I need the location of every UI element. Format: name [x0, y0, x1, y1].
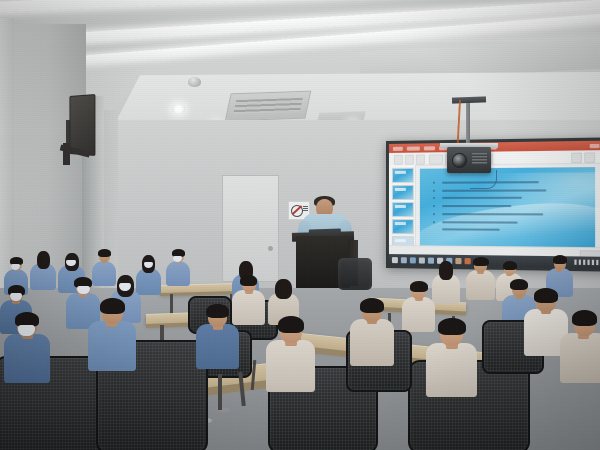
audience-member-torso	[266, 340, 315, 392]
audience-member-hair	[240, 275, 257, 286]
slide-thumbnail[interactable]	[392, 168, 414, 183]
audience-member-hair	[503, 261, 517, 270]
audience-member-torso	[426, 343, 477, 397]
audience-member-hair	[553, 255, 567, 264]
audience-member-hair	[275, 279, 292, 299]
slide-thumbnail-panel[interactable]	[389, 165, 416, 255]
slide-thumbnail[interactable]	[392, 219, 414, 234]
audience-member-torso	[232, 290, 265, 325]
projected-image	[389, 141, 600, 269]
audience-member-hair	[473, 257, 489, 266]
audience-member-torso	[402, 297, 435, 332]
audience-member-torso	[350, 319, 394, 366]
mesh-office-chair	[338, 258, 372, 290]
projector-vent	[472, 153, 487, 164]
active-slide[interactable]	[420, 167, 595, 248]
audience-member-torso	[560, 333, 600, 383]
windows-taskbar[interactable]	[389, 254, 600, 268]
projection-screen	[386, 137, 600, 271]
projector-signal-cable	[470, 170, 497, 189]
projector-drop-pole	[466, 103, 470, 147]
audience-member-torso	[4, 334, 50, 383]
slide-thumbnail[interactable]	[392, 185, 414, 200]
audience-member-hair	[278, 316, 304, 333]
audience-member-hair	[410, 281, 428, 292]
audience-member-torso	[92, 261, 116, 286]
powerpoint-toolbar[interactable]	[389, 150, 600, 166]
audience-member-hair	[438, 318, 466, 335]
slide-thumbnail[interactable]	[392, 202, 414, 217]
audience-member-hair	[534, 288, 558, 303]
audience-member-torso	[166, 261, 190, 286]
recessed-downlight	[172, 104, 185, 114]
audience-member-hair	[100, 298, 125, 314]
audience-member-torso	[196, 324, 239, 369]
audience-member-hair	[206, 304, 229, 318]
audience-member-torso	[466, 270, 495, 300]
face-mask	[18, 325, 35, 336]
audience-member-hair	[98, 249, 111, 257]
audience-member-hair	[572, 310, 597, 326]
audience-member-hair	[360, 298, 384, 313]
training-room-photo	[0, 0, 600, 450]
audience-member-hair	[510, 279, 528, 290]
door-handle[interactable]	[268, 246, 273, 251]
dome-security-camera	[188, 77, 201, 87]
projector-lens	[452, 153, 467, 168]
audience-member-hair	[439, 261, 453, 280]
audience-member-hair	[37, 251, 50, 269]
ceiling-cassette-air-conditioner	[225, 91, 312, 122]
audience-member-torso	[88, 321, 136, 371]
